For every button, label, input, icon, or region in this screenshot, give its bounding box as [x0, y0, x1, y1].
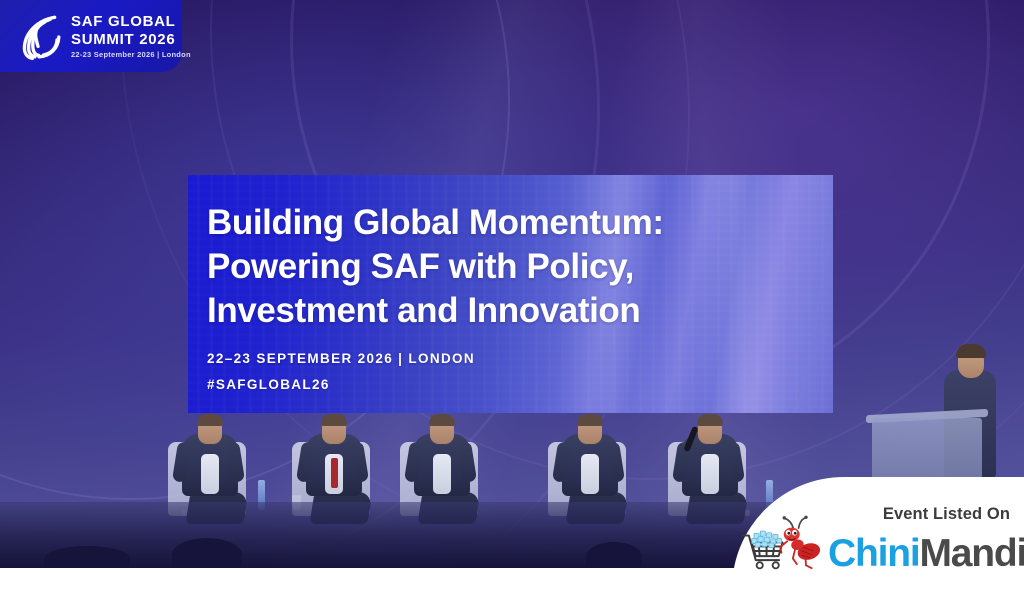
brand-part-chini: Chini — [828, 532, 919, 575]
podium-speaker — [872, 304, 1002, 504]
ant-with-sugar-cart-icon — [738, 515, 826, 575]
logo-line-1: SAF GLOBAL — [71, 14, 191, 29]
logo-line-2: SUMMIT 2026 — [71, 32, 191, 47]
headline-panel: Building Global Momentum: Powering SAF w… — [188, 175, 833, 413]
headline-line-3: Investment and Innovation — [207, 289, 833, 333]
brand-part-mandi: Mandi — [919, 532, 1024, 575]
logo-line-3: 22-23 September 2026 | London — [71, 51, 191, 59]
chinimandi-logo[interactable]: ChiniMandi.com — [738, 515, 1024, 575]
event-listed-badge[interactable]: Event Listed On — [732, 477, 1024, 589]
chinimandi-wordmark: ChiniMandi.com — [828, 534, 1024, 573]
saf-globe-swoosh-icon — [12, 10, 64, 62]
event-date-location: 22–23 SEPTEMBER 2026 | LONDON — [207, 351, 833, 366]
event-hashtag: #SAFGLOBAL26 — [207, 377, 833, 392]
event-logo-badge[interactable]: SAF GLOBAL SUMMIT 2026 22-23 September 2… — [0, 0, 182, 72]
headline-line-2: Powering SAF with Policy, — [207, 245, 833, 289]
event-banner: SAF GLOBAL SUMMIT 2025 — [0, 0, 1024, 589]
headline-line-1: Building Global Momentum: — [207, 201, 833, 245]
